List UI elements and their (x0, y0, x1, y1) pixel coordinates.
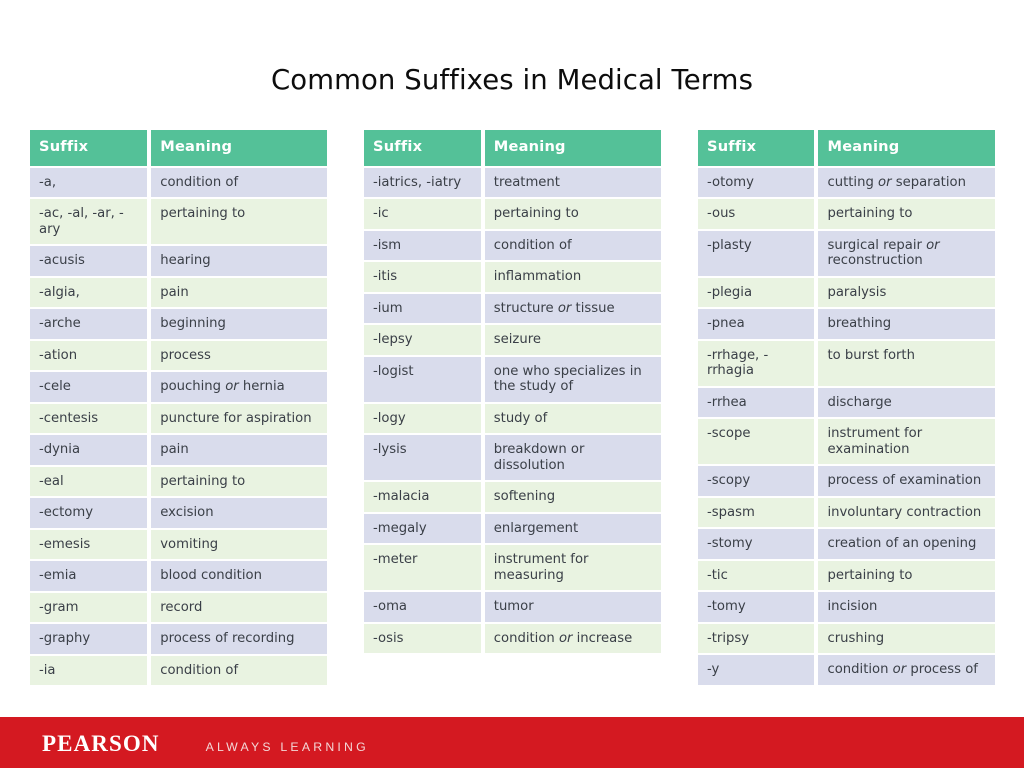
table-row: -icpertaining to (364, 199, 661, 229)
table-row: -meterinstrument for measuring (364, 545, 661, 590)
cell-meaning: hearing (151, 246, 327, 276)
pearson-tagline: ALWAYS LEARNING (206, 740, 369, 754)
table-row: -ismcondition of (364, 231, 661, 261)
suffix-table-1: Suffix Meaning -a,condition of-ac, -al, … (26, 128, 331, 687)
cell-meaning: incision (818, 592, 995, 622)
cell-suffix: -algia, (30, 278, 147, 308)
cell-suffix: -plegia (698, 278, 814, 308)
cell-meaning: cutting or separation (818, 168, 995, 198)
cell-suffix: -logy (364, 404, 481, 434)
slide-canvas: Common Suffixes in Medical Terms Suffix … (0, 0, 1024, 768)
cell-meaning: tumor (485, 592, 661, 622)
cell-suffix: -logist (364, 357, 481, 402)
table-row: -emiablood condition (30, 561, 327, 591)
table-row: -osiscondition or increase (364, 624, 661, 654)
table-row: -malaciasoftening (364, 482, 661, 512)
table: Suffix Meaning -a,condition of-ac, -al, … (26, 128, 331, 687)
column-header-suffix: Suffix (364, 130, 481, 166)
cell-suffix: -plasty (698, 231, 814, 276)
table-body: -iatrics, -iatrytreatment-icpertaining t… (364, 168, 661, 654)
table-row: -iacondition of (30, 656, 327, 686)
table-row: -ouspertaining to (698, 199, 995, 229)
cell-suffix: -ation (30, 341, 147, 371)
cell-meaning: pertaining to (151, 467, 327, 497)
cell-meaning: process (151, 341, 327, 371)
column-header-suffix: Suffix (698, 130, 814, 166)
table-row: -emesisvomiting (30, 530, 327, 560)
table-row: -graphyprocess of recording (30, 624, 327, 654)
cell-meaning: enlargement (485, 514, 661, 544)
table-row: -iumstructure or tissue (364, 294, 661, 324)
cell-meaning: condition of (151, 656, 327, 686)
table: Suffix Meaning -iatrics, -iatrytreatment… (360, 128, 665, 655)
cell-suffix: -ac, -al, -ar, -ary (30, 199, 147, 244)
table-body: -otomycutting or separation-ouspertainin… (698, 168, 995, 685)
cell-meaning: process of examination (818, 466, 995, 496)
cell-meaning: blood condition (151, 561, 327, 591)
cell-suffix: -centesis (30, 404, 147, 434)
cell-suffix: -tic (698, 561, 814, 591)
column-header-meaning: Meaning (485, 130, 661, 166)
table-row: -ectomyexcision (30, 498, 327, 528)
column-header-meaning: Meaning (151, 130, 327, 166)
table-row: -celepouching or hernia (30, 372, 327, 402)
cell-meaning: softening (485, 482, 661, 512)
cell-suffix: -stomy (698, 529, 814, 559)
cell-meaning: instrument for examination (818, 419, 995, 464)
table-header-row: Suffix Meaning (364, 130, 661, 166)
pearson-logo: PEARSON ALWAYS LEARNING (42, 731, 369, 757)
cell-meaning: instrument for measuring (485, 545, 661, 590)
cell-meaning: discharge (818, 388, 995, 418)
cell-suffix: -a, (30, 168, 147, 198)
table-row: -scopyprocess of examination (698, 466, 995, 496)
table-row: -logystudy of (364, 404, 661, 434)
cell-meaning: process of recording (151, 624, 327, 654)
cell-meaning: excision (151, 498, 327, 528)
cell-suffix: -ium (364, 294, 481, 324)
cell-suffix: -spasm (698, 498, 814, 528)
suffix-table-2: Suffix Meaning -iatrics, -iatrytreatment… (360, 128, 665, 655)
footer-band: PEARSON ALWAYS LEARNING VERMONT DEPARTME… (0, 717, 1024, 768)
table-row: -itisinflammation (364, 262, 661, 292)
cell-meaning: puncture for aspiration (151, 404, 327, 434)
cell-suffix: -lysis (364, 435, 481, 480)
cell-suffix: -lepsy (364, 325, 481, 355)
cell-suffix: -pnea (698, 309, 814, 339)
cell-meaning: condition of (485, 231, 661, 261)
table-row: -iatrics, -iatrytreatment (364, 168, 661, 198)
cell-meaning: pain (151, 435, 327, 465)
cell-suffix: -emesis (30, 530, 147, 560)
cell-suffix: -scopy (698, 466, 814, 496)
cell-meaning: condition of (151, 168, 327, 198)
table-body: -a,condition of-ac, -al, -ar, -arypertai… (30, 168, 327, 686)
table-row: -spasminvoluntary contraction (698, 498, 995, 528)
cell-meaning: paralysis (818, 278, 995, 308)
table-row: -rrhage, -rrhagiato burst forth (698, 341, 995, 386)
cell-suffix: -otomy (698, 168, 814, 198)
cell-suffix: -tripsy (698, 624, 814, 654)
table-row: -pneabreathing (698, 309, 995, 339)
table-row: -ycondition or process of (698, 655, 995, 685)
cell-meaning: pouching or hernia (151, 372, 327, 402)
cell-meaning: record (151, 593, 327, 623)
cell-suffix: -scope (698, 419, 814, 464)
table-row: -gramrecord (30, 593, 327, 623)
cell-meaning: crushing (818, 624, 995, 654)
cell-meaning: structure or tissue (485, 294, 661, 324)
cell-meaning: vomiting (151, 530, 327, 560)
cell-suffix: -emia (30, 561, 147, 591)
cell-suffix: -gram (30, 593, 147, 623)
cell-suffix: -megaly (364, 514, 481, 544)
table-row: -stomycreation of an opening (698, 529, 995, 559)
pearson-wordmark: PEARSON (42, 731, 160, 757)
cell-suffix: -malacia (364, 482, 481, 512)
cell-suffix: -rrhea (698, 388, 814, 418)
table-row: -ationprocess (30, 341, 327, 371)
table-row: -omatumor (364, 592, 661, 622)
table-row: -algia,pain (30, 278, 327, 308)
cell-meaning: condition or process of (818, 655, 995, 685)
table-row: -tomyincision (698, 592, 995, 622)
cell-suffix: -ia (30, 656, 147, 686)
cell-suffix: -oma (364, 592, 481, 622)
cell-suffix: -tomy (698, 592, 814, 622)
table-row: -a,condition of (30, 168, 327, 198)
table-row: -lepsyseizure (364, 325, 661, 355)
table-row: -ac, -al, -ar, -arypertaining to (30, 199, 327, 244)
table-row: -centesispuncture for aspiration (30, 404, 327, 434)
table-row: -tripsycrushing (698, 624, 995, 654)
table-row: -dyniapain (30, 435, 327, 465)
cell-suffix: -eal (30, 467, 147, 497)
cell-meaning: treatment (485, 168, 661, 198)
cell-meaning: inflammation (485, 262, 661, 292)
cell-suffix: -graphy (30, 624, 147, 654)
table-header-row: Suffix Meaning (30, 130, 327, 166)
cell-suffix: -meter (364, 545, 481, 590)
cell-suffix: -dynia (30, 435, 147, 465)
cell-meaning: study of (485, 404, 661, 434)
cell-suffix: -y (698, 655, 814, 685)
cell-suffix: -ic (364, 199, 481, 229)
cell-meaning: creation of an opening (818, 529, 995, 559)
table-row: -archebeginning (30, 309, 327, 339)
cell-suffix: -arche (30, 309, 147, 339)
cell-meaning: pain (151, 278, 327, 308)
table: Suffix Meaning -otomycutting or separati… (694, 128, 999, 687)
cell-meaning: beginning (151, 309, 327, 339)
table-row: -plegiaparalysis (698, 278, 995, 308)
cell-meaning: breathing (818, 309, 995, 339)
table-row: -ticpertaining to (698, 561, 995, 591)
cell-meaning: pertaining to (151, 199, 327, 244)
cell-meaning: surgical repair or reconstruction (818, 231, 995, 276)
cell-suffix: -ectomy (30, 498, 147, 528)
cell-meaning: pertaining to (818, 561, 995, 591)
cell-meaning: pertaining to (818, 199, 995, 229)
table-row: -plastysurgical repair or reconstruction (698, 231, 995, 276)
cell-suffix: -osis (364, 624, 481, 654)
cell-suffix: -acusis (30, 246, 147, 276)
cell-meaning: pertaining to (485, 199, 661, 229)
cell-suffix: -iatrics, -iatry (364, 168, 481, 198)
cell-suffix: -ism (364, 231, 481, 261)
cell-meaning: to burst forth (818, 341, 995, 386)
suffix-table-3: Suffix Meaning -otomycutting or separati… (694, 128, 999, 687)
cell-suffix: -itis (364, 262, 481, 292)
cell-meaning: one who specializes in the study of (485, 357, 661, 402)
cell-meaning: involuntary contraction (818, 498, 995, 528)
table-row: -otomycutting or separation (698, 168, 995, 198)
table-row: -rrheadischarge (698, 388, 995, 418)
table-header-row: Suffix Meaning (698, 130, 995, 166)
cell-meaning: condition or increase (485, 624, 661, 654)
table-row: -acusishearing (30, 246, 327, 276)
table-row: -megalyenlargement (364, 514, 661, 544)
page-title: Common Suffixes in Medical Terms (0, 64, 1024, 96)
table-row: -logistone who specializes in the study … (364, 357, 661, 402)
cell-meaning: seizure (485, 325, 661, 355)
table-row: -lysisbreakdown or dissolution (364, 435, 661, 480)
cell-suffix: -rrhage, -rrhagia (698, 341, 814, 386)
cell-suffix: -cele (30, 372, 147, 402)
column-header-suffix: Suffix (30, 130, 147, 166)
column-header-meaning: Meaning (818, 130, 995, 166)
cell-meaning: breakdown or dissolution (485, 435, 661, 480)
cell-suffix: -ous (698, 199, 814, 229)
table-row: -ealpertaining to (30, 467, 327, 497)
table-row: -scopeinstrument for examination (698, 419, 995, 464)
